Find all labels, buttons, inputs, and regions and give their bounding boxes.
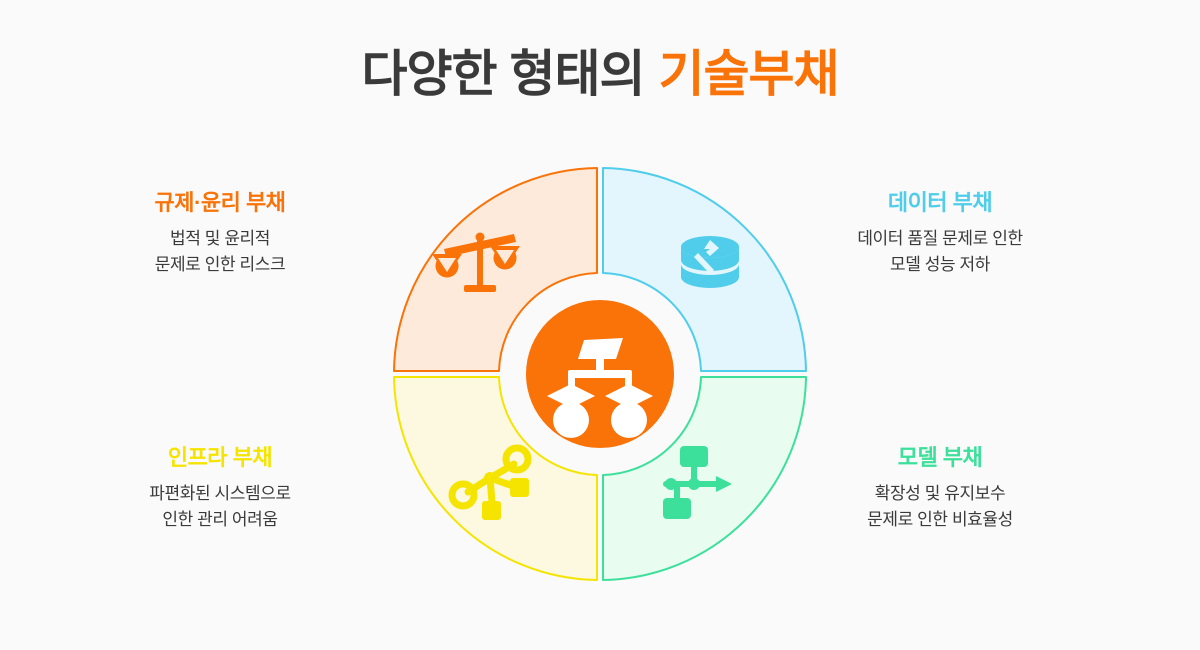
quadrant-description-infrastructure-debt: 파편화된 시스템으로 인한 관리 어려움 bbox=[70, 481, 370, 533]
quadrant-label-regulation-ethics-debt: 규제·윤리 부채 법적 및 윤리적 문제로 인한 리스크 bbox=[70, 188, 370, 278]
page-title: 다양한 형태의기술부채 bbox=[0, 44, 1200, 104]
quadrant-desc-line-1: 확장성 및 유지보수 bbox=[790, 481, 1090, 507]
title-accent-text: 기술부채 bbox=[658, 46, 838, 102]
quadrant-desc-line-1: 데이터 품질 문제로 인한 bbox=[790, 226, 1090, 252]
quadrant-desc-line-2: 문제로 인한 비효율성 bbox=[790, 507, 1090, 533]
infographic-canvas: 다양한 형태의기술부채 bbox=[0, 0, 1200, 650]
quadrant-label-data-debt: 데이터 부채 데이터 품질 문제로 인한 모델 성능 저하 bbox=[790, 188, 1090, 278]
quadrant-description-data-debt: 데이터 품질 문제로 인한 모델 성능 저하 bbox=[790, 226, 1090, 278]
quadrant-desc-line-1: 파편화된 시스템으로 bbox=[70, 481, 370, 507]
quadrant-description-regulation-ethics-debt: 법적 및 윤리적 문제로 인한 리스크 bbox=[70, 226, 370, 278]
quadrant-desc-line-2: 문제로 인한 리스크 bbox=[70, 252, 370, 278]
quadrant-description-model-debt: 확장성 및 유지보수 문제로 인한 비효율성 bbox=[790, 481, 1090, 533]
quadrant-label-model-debt: 모델 부채 확장성 및 유지보수 문제로 인한 비효율성 bbox=[790, 443, 1090, 533]
donut-diagram bbox=[380, 154, 820, 594]
quadrant-desc-line-2: 모델 성능 저하 bbox=[790, 252, 1090, 278]
database-icon bbox=[681, 236, 739, 288]
quadrant-desc-line-1: 법적 및 윤리적 bbox=[70, 226, 370, 252]
quadrant-label-infrastructure-debt: 인프라 부채 파편화된 시스템으로 인한 관리 어려움 bbox=[70, 443, 370, 533]
quadrant-title-regulation-ethics-debt: 규제·윤리 부채 bbox=[70, 188, 370, 218]
quadrant-title-data-debt: 데이터 부채 bbox=[790, 188, 1090, 218]
quadrant-title-model-debt: 모델 부채 bbox=[790, 443, 1090, 473]
quadrant-title-infrastructure-debt: 인프라 부채 bbox=[70, 443, 370, 473]
quadrant-desc-line-2: 인한 관리 어려움 bbox=[70, 507, 370, 533]
title-main-text: 다양한 형태의 bbox=[362, 46, 645, 102]
